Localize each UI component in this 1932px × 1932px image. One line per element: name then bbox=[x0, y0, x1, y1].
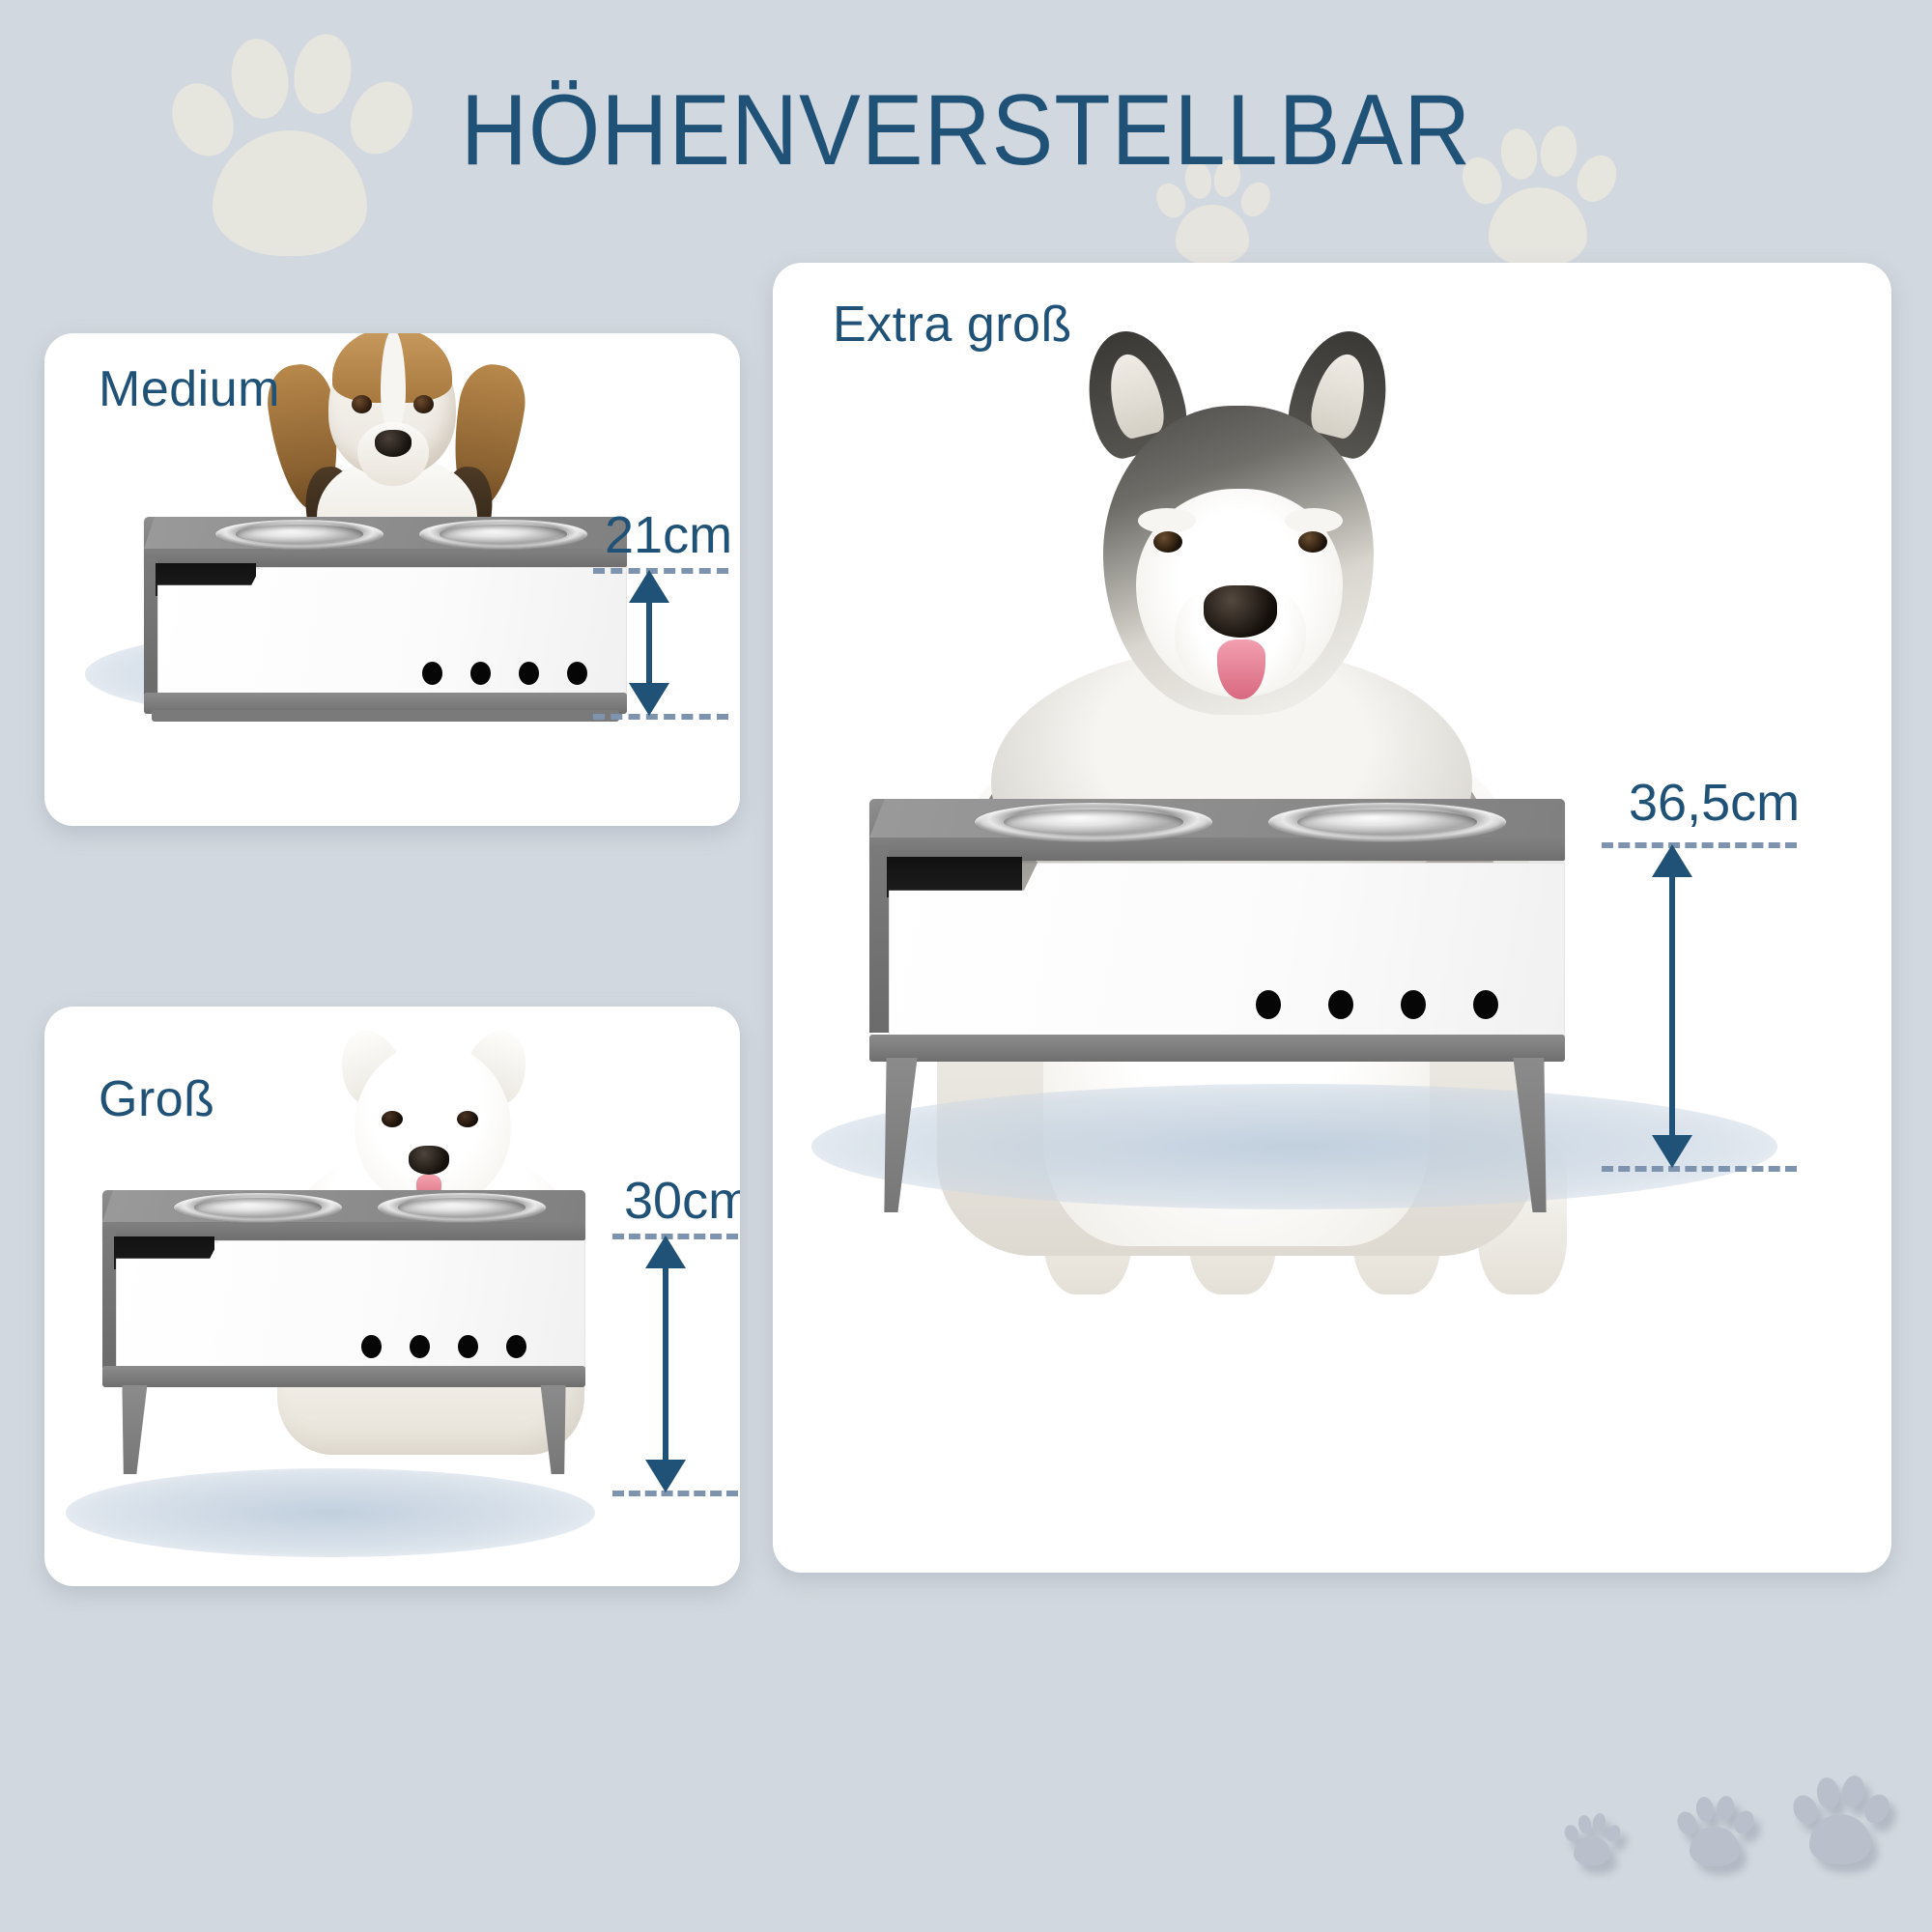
card-label-medium: Medium bbox=[99, 360, 280, 418]
card-medium: Medium 21cm bbox=[44, 333, 740, 826]
feeder-hole-2 bbox=[410, 1335, 430, 1358]
feeder-leg-right bbox=[1513, 1058, 1554, 1212]
paw-print-icon-footer-small bbox=[1564, 1810, 1620, 1866]
feeder-bowl-right bbox=[377, 1192, 547, 1223]
dimension-line-gross bbox=[663, 1260, 668, 1464]
card-label-xl: Extra groß bbox=[833, 296, 1072, 354]
feeder-hole-1 bbox=[422, 662, 442, 685]
feeder-bowl-right bbox=[1267, 802, 1507, 842]
card-xl: Extra groß 36 bbox=[773, 263, 1891, 1573]
card-gross: Groß 30cm bbox=[44, 1007, 740, 1586]
feeder-stand-xl bbox=[869, 799, 1565, 1195]
feeder-bowl-left bbox=[173, 1192, 343, 1223]
feeder-hole-1 bbox=[361, 1335, 382, 1358]
arrow-down-icon-gross bbox=[645, 1460, 686, 1492]
card-label-gross: Groß bbox=[99, 1070, 214, 1128]
dimension-guide-top bbox=[1602, 842, 1797, 848]
feeder-left-side bbox=[869, 849, 889, 1033]
dimension-line-medium bbox=[646, 592, 652, 689]
feeder-stand-medium bbox=[144, 517, 627, 729]
paw-print-icon-footer-medium bbox=[1676, 1791, 1753, 1868]
arrow-down-icon-medium bbox=[629, 683, 669, 716]
feeder-bowl-right bbox=[418, 519, 588, 550]
feeder-bowl-left bbox=[974, 802, 1213, 842]
feeder-hole-1 bbox=[1256, 990, 1281, 1019]
feeder-hole-4 bbox=[1473, 990, 1498, 1019]
feeder-hole-4 bbox=[506, 1335, 526, 1358]
feeder-base-rail bbox=[102, 1366, 585, 1387]
arrow-down-icon-xl bbox=[1652, 1135, 1692, 1168]
feeder-foot-rail bbox=[152, 710, 619, 722]
dimension-label-gross: 30cm bbox=[624, 1171, 740, 1231]
feeder-hole-4 bbox=[567, 662, 587, 685]
feeder-hole-3 bbox=[1401, 990, 1426, 1019]
feeder-hole-2 bbox=[470, 662, 491, 685]
dimension-line-xl bbox=[1669, 869, 1675, 1140]
feeder-hole-3 bbox=[519, 662, 539, 685]
feeder-leg-left bbox=[118, 1385, 148, 1474]
page-title: HÖHENVERSTELLBAR bbox=[77, 73, 1855, 188]
feeder-front-panel bbox=[157, 567, 627, 696]
feeder-hole-2 bbox=[1328, 990, 1353, 1019]
feeder-base-rail bbox=[869, 1035, 1565, 1062]
feeder-leg-right bbox=[541, 1385, 571, 1474]
feeder-leg-left bbox=[875, 1058, 917, 1212]
feeder-hole-3 bbox=[458, 1335, 478, 1358]
dimension-guide-bottom bbox=[1602, 1166, 1797, 1172]
paw-print-icon-footer-large bbox=[1792, 1770, 1889, 1866]
feeder-stand-gross bbox=[102, 1190, 585, 1499]
feeder-bowl-left bbox=[214, 519, 384, 550]
dimension-label-xl: 36,5cm bbox=[1629, 773, 1800, 833]
dimension-label-medium: 21cm bbox=[605, 505, 732, 565]
